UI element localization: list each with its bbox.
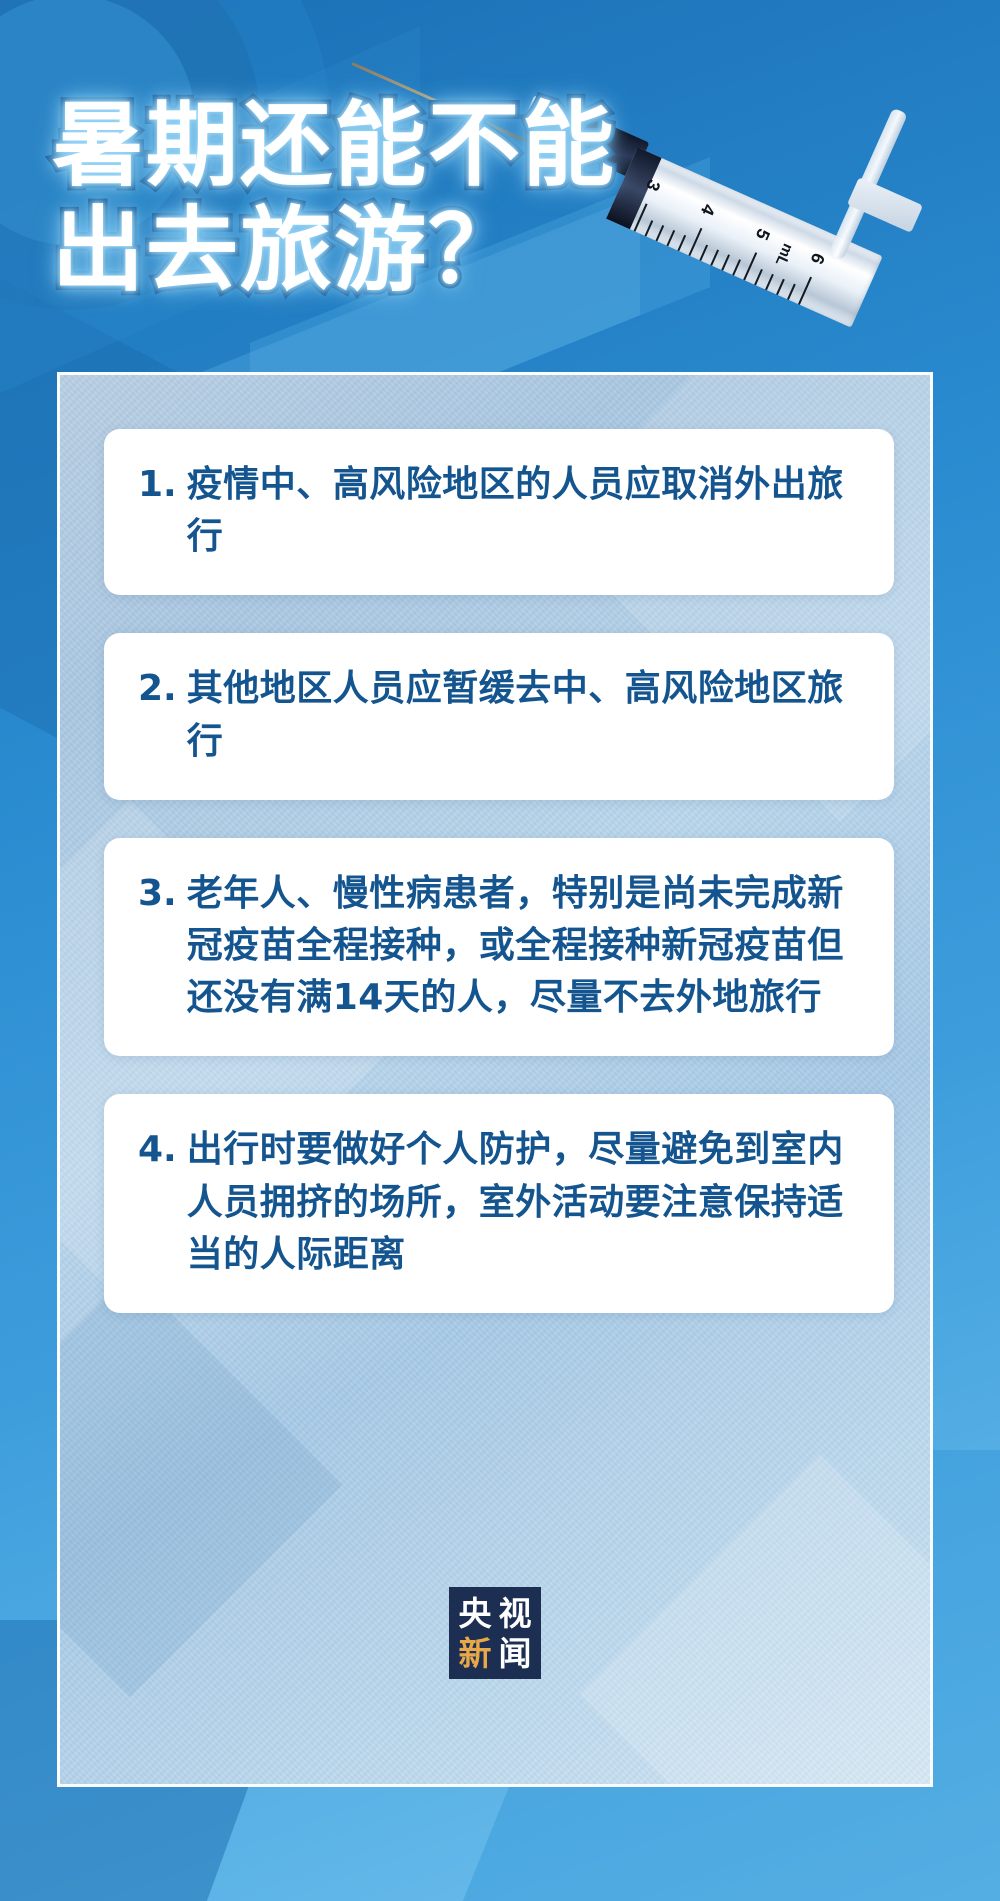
logo-char-xin: 新 [456,1634,494,1672]
list-item: 4. 出行时要做好个人防护，尽量避免到室内人员拥挤的场所，室外活动要注意保持适当… [104,1094,894,1313]
logo-box: 央 视 新 闻 [449,1587,541,1679]
list-item: 2. 其他地区人员应暂缓去中、高风险地区旅行 [104,633,894,799]
list-item-text: 老年人、慢性病患者，特别是尚未完成新冠疫苗全程接种，或全程接种新冠疫苗但还没有满… [187,868,860,1025]
poster-root: 3 4 5 mL 6 暑期还能不能 出去旅游？ 1. 疫情中、高风险地区的人员应… [0,0,1000,1901]
advice-list: 1. 疫情中、高风险地区的人员应取消外出旅行 2. 其他地区人员应暂缓去中、高风… [104,429,894,1351]
logo-char-shi: 视 [496,1594,534,1632]
list-item: 3. 老年人、慢性病患者，特别是尚未完成新冠疫苗全程接种，或全程接种新冠疫苗但还… [104,838,894,1057]
logo-char-wen: 闻 [496,1634,534,1672]
list-item-number: 3. [138,868,187,920]
logo-char-yang: 央 [456,1594,494,1632]
syringe-unit-ml: mL [772,241,797,268]
page-title: 暑期还能不能 出去旅游？ [52,96,712,301]
content-panel: 1. 疫情中、高风险地区的人员应取消外出旅行 2. 其他地区人员应暂缓去中、高风… [57,372,933,1787]
list-item-number: 2. [138,663,187,715]
list-item: 1. 疫情中、高风险地区的人员应取消外出旅行 [104,429,894,595]
cctv-news-logo: 央 视 新 闻 [60,1587,930,1679]
page-title-line-2: 出去旅游？ [52,201,712,300]
list-item-text: 疫情中、高风险地区的人员应取消外出旅行 [187,459,860,563]
syringe-mark-5: 5 [751,225,774,243]
syringe-mark-6: 6 [806,250,829,268]
page-title-line-1: 暑期还能不能 [52,96,712,195]
list-item-number: 4. [138,1124,187,1176]
list-item-text: 其他地区人员应暂缓去中、高风险地区旅行 [187,663,860,767]
list-item-text: 出行时要做好个人防护，尽量避免到室内人员拥挤的场所，室外活动要注意保持适当的人际… [187,1124,860,1281]
list-item-number: 1. [138,459,187,511]
